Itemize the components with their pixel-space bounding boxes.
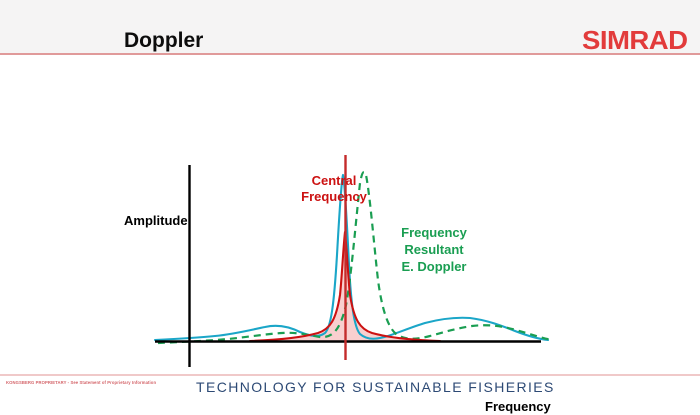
page-title: Doppler xyxy=(124,29,203,53)
central-frequency-annotation-line1: Central xyxy=(274,173,394,189)
doppler-resultant-line2: Resultant xyxy=(378,241,490,258)
central-frequency-annotation: Central Frequency xyxy=(274,173,394,205)
x-axis-label: Frequency xyxy=(485,399,551,415)
simrad-logo: SIMRAD xyxy=(582,26,688,54)
doppler-resultant-line1: Frequency xyxy=(378,224,490,241)
doppler-resultant-line3: E. Doppler xyxy=(378,258,490,275)
y-axis-label: Amplitude xyxy=(124,213,188,229)
proprietary-notice: KONGSBERG PROPRIETARY - See Statement of… xyxy=(6,380,156,386)
central-frequency-annotation-line2: Frequency xyxy=(274,189,394,205)
footer-divider-rule xyxy=(0,374,700,376)
doppler-resultant-annotation: Frequency Resultant E. Doppler xyxy=(378,224,490,275)
company-tagline: TECHNOLOGY FOR SUSTAINABLE FISHERIES xyxy=(196,378,555,396)
doppler-spectrum-chart: Amplitude Frequency Central Frequency Fr… xyxy=(0,55,700,370)
chart-plot-svg xyxy=(0,55,700,370)
